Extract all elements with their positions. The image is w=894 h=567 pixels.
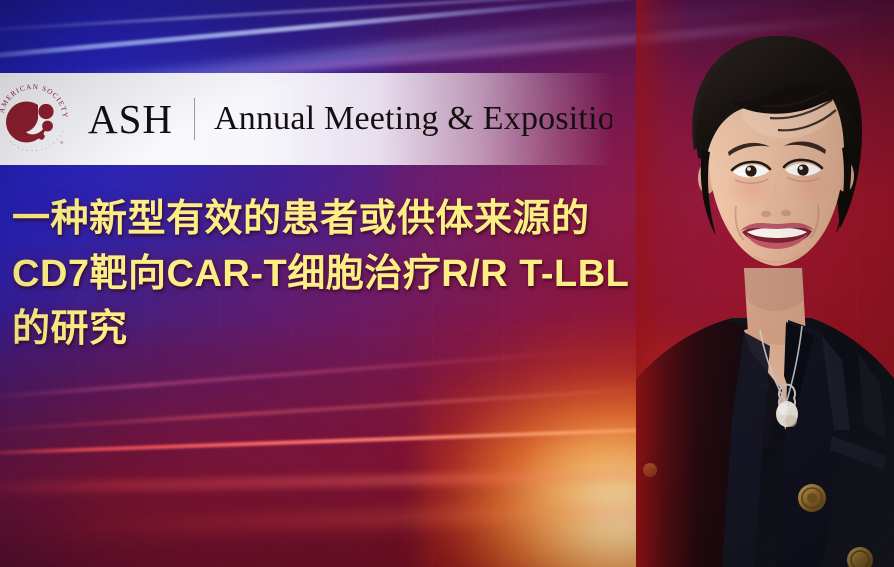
ash-full-title: Annual Meeting & Exposition xyxy=(214,102,612,136)
title-line-3: 的研究 xyxy=(12,302,732,357)
svg-text:®: ® xyxy=(60,140,64,145)
ash-abbreviation: ASH xyxy=(88,99,173,140)
ash-banner: AMERICAN SOCIETY OF HEMATOLOGY · · · · ·… xyxy=(0,73,612,165)
ash-wordmark: ASH Annual Meeting & Exposition xyxy=(88,98,612,140)
speaker-portrait xyxy=(636,0,894,567)
ash-seal-logo: AMERICAN SOCIETY OF HEMATOLOGY · · · · ·… xyxy=(0,78,72,160)
banner-divider xyxy=(194,98,195,140)
title-line-2: CD7靶向CAR-T细胞治疗R/R T-LBL xyxy=(12,247,732,302)
slide-title: 一种新型有效的患者或供体来源的 CD7靶向CAR-T细胞治疗R/R T-LBL … xyxy=(12,192,732,357)
title-line-1: 一种新型有效的患者或供体来源的 xyxy=(12,192,732,247)
presentation-slide: AMERICAN SOCIETY OF HEMATOLOGY · · · · ·… xyxy=(0,0,894,567)
